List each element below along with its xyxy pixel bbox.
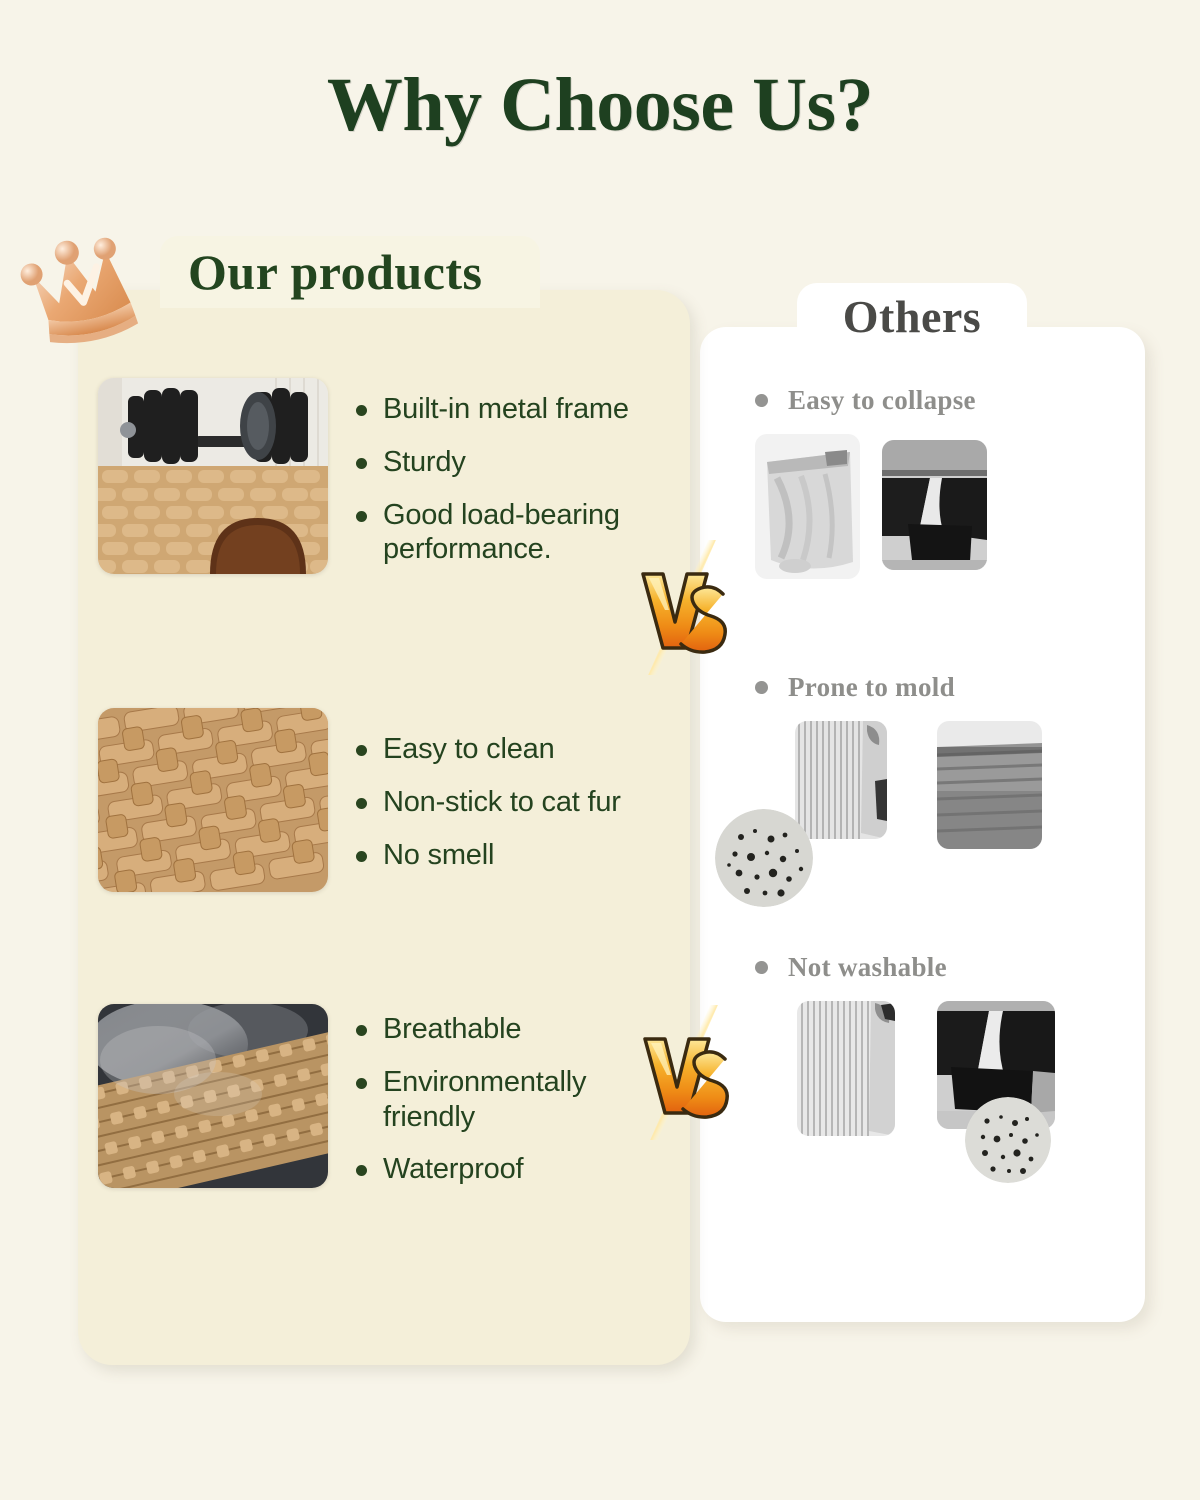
list-item: Good load-bearing performance. — [356, 498, 683, 568]
mold-spots-circle-inset — [965, 1097, 1051, 1183]
bullet-dot-icon — [356, 1025, 367, 1036]
moldy-fabric-surface-photo — [937, 721, 1042, 849]
others-tab: Others — [797, 283, 1027, 349]
bullet-dot-icon — [755, 961, 768, 974]
others-row-header: Easy to collapse — [755, 385, 987, 416]
our-products-row-1: Built-in metal frame Sturdy Good load-be… — [98, 378, 683, 585]
bullet-dot-icon — [356, 1078, 367, 1089]
others-row-images — [755, 1001, 1055, 1136]
bullet-text: Non-stick to cat fur — [383, 785, 621, 820]
bullet-text: Built-in metal frame — [383, 392, 629, 427]
others-row-header: Prone to mold — [755, 672, 1042, 703]
crown-icon — [8, 215, 168, 345]
collapsed-fabric-bin-photo — [755, 434, 860, 579]
bullet-dot-icon — [356, 745, 367, 756]
others-row-label: Easy to collapse — [788, 385, 976, 416]
bullet-text: Sturdy — [383, 445, 466, 480]
bullet-dot-icon — [755, 394, 768, 407]
list-item: Easy to clean — [356, 732, 621, 767]
steam-over-wicker-panel-photo — [98, 1004, 328, 1188]
list-item: Built-in metal frame — [356, 392, 683, 427]
our-products-tab-label: Our products — [188, 243, 483, 301]
our-products-row-3: Breathable Environmentally friendly Wate… — [98, 1004, 683, 1205]
bullet-dot-icon — [356, 851, 367, 862]
vs-badge-bottom — [637, 1005, 737, 1140]
bullet-dot-icon — [356, 1165, 367, 1176]
others-row-not-washable: Not washable — [755, 952, 1055, 1136]
others-row-images — [755, 721, 1042, 849]
bullet-text: No smell — [383, 838, 494, 873]
woven-rattan-texture-photo — [98, 708, 328, 892]
others-row-header: Not washable — [755, 952, 1055, 983]
page-title: Why Choose Us? — [0, 62, 1200, 149]
list-item: Environmentally friendly — [356, 1065, 683, 1135]
striped-fabric-bin-photo — [797, 1001, 895, 1136]
list-item: Waterproof — [356, 1152, 683, 1187]
our-products-bullets-2: Easy to clean Non-stick to cat fur No sm… — [356, 708, 621, 890]
dumbbells-on-wicker-basket-photo — [98, 378, 328, 574]
mold-spots-circle-inset — [715, 809, 813, 907]
others-row-easy-to-collapse: Easy to collapse — [755, 385, 987, 579]
list-item: No smell — [356, 838, 621, 873]
list-item: Breathable — [356, 1012, 683, 1047]
collapsing-dark-cube-bin-photo — [882, 440, 987, 570]
our-products-tab: Our products — [160, 236, 540, 308]
others-tab-label: Others — [843, 290, 981, 343]
list-item: Non-stick to cat fur — [356, 785, 621, 820]
bullet-text: Breathable — [383, 1012, 521, 1047]
others-row-label: Not washable — [788, 952, 947, 983]
bullet-text: Waterproof — [383, 1152, 523, 1187]
bullet-dot-icon — [356, 798, 367, 809]
bullet-dot-icon — [356, 511, 367, 522]
our-products-bullets-3: Breathable Environmentally friendly Wate… — [356, 1004, 683, 1205]
list-item: Sturdy — [356, 445, 683, 480]
bullet-text: Easy to clean — [383, 732, 555, 767]
our-products-bullets-1: Built-in metal frame Sturdy Good load-be… — [356, 378, 683, 585]
others-row-label: Prone to mold — [788, 672, 955, 703]
others-row-prone-to-mold: Prone to mold — [755, 672, 1042, 849]
our-products-row-2: Easy to clean Non-stick to cat fur No sm… — [98, 708, 621, 892]
others-row-images — [755, 434, 987, 579]
bullet-dot-icon — [356, 458, 367, 469]
bullet-dot-icon — [356, 405, 367, 416]
bullet-dot-icon — [755, 681, 768, 694]
vs-badge-top — [635, 540, 735, 675]
striped-fabric-bin-photo — [795, 721, 887, 839]
